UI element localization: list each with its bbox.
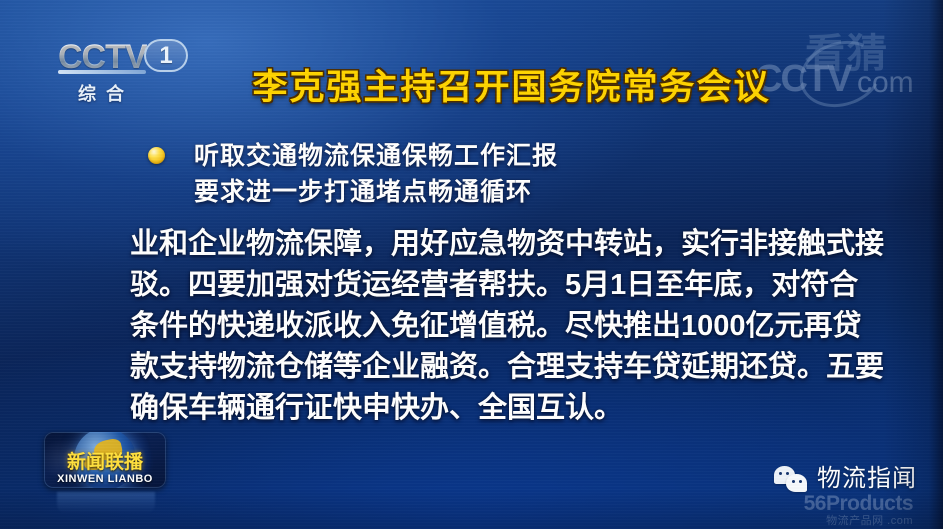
body-line: 条件的快递收派收入免征增值税。尽快推出1000亿元再贷 (130, 306, 824, 347)
subtitle-block: 听取交通物流保通保畅工作汇报 要求进一步打通堵点畅通循环 (148, 138, 848, 210)
subtitle-line: 要求进一步打通堵点畅通循环 (194, 174, 848, 210)
site-watermark-main: 56Products (804, 493, 913, 514)
body-line: 款支持物流仓储等企业融资。合理支持车贷延期还贷。五要 (130, 347, 824, 388)
broadcast-frame: CCTV 1 综合 看猜 CCTV com 李克强主持召开国务院常务会议 听取交… (0, 0, 943, 529)
body-line: 确保车辆通行证快申快办、全国互认。 (130, 388, 824, 429)
headline: 李克强主持召开国务院常务会议 (0, 68, 943, 108)
gold-bullet-icon (148, 147, 165, 164)
wechat-eye-dot (786, 472, 789, 475)
wechat-eye-dot (799, 480, 802, 483)
program-logo-en: XINWEN LIANBO (44, 473, 166, 485)
channel-logo-number: 1 (146, 44, 186, 68)
subtitle-line: 听取交通物流保通保畅工作汇报 (194, 138, 848, 174)
program-logo-reflection (57, 492, 155, 514)
wechat-eye-dot (779, 472, 782, 475)
body-text-block: 业和企业物流保障，用好应急物资中转站，实行非接触式接 驳。四要加强对货运经营者帮… (130, 224, 824, 429)
site-watermark: 56Products 物流产品网 .com (804, 493, 913, 527)
wechat-icon (774, 466, 808, 492)
program-logo: 新闻联播 XINWEN LIANBO (44, 432, 166, 488)
body-line: 驳。四要加强对货运经营者帮扶。5月1日至年底，对符合 (130, 265, 824, 306)
wechat-account-name: 物流指闻 (817, 466, 917, 492)
wechat-bubble-front (786, 474, 807, 492)
site-watermark-sub: 物流产品网 .com (804, 515, 913, 527)
subtitle-lines: 听取交通物流保通保畅工作汇报 要求进一步打通堵点畅通循环 (194, 138, 848, 210)
wechat-eye-dot (792, 480, 795, 483)
body-line: 业和企业物流保障，用好应急物资中转站，实行非接触式接 (130, 224, 824, 265)
wechat-watermark: 物流指闻 (774, 462, 917, 496)
program-logo-cn: 新闻联播 (44, 453, 166, 473)
